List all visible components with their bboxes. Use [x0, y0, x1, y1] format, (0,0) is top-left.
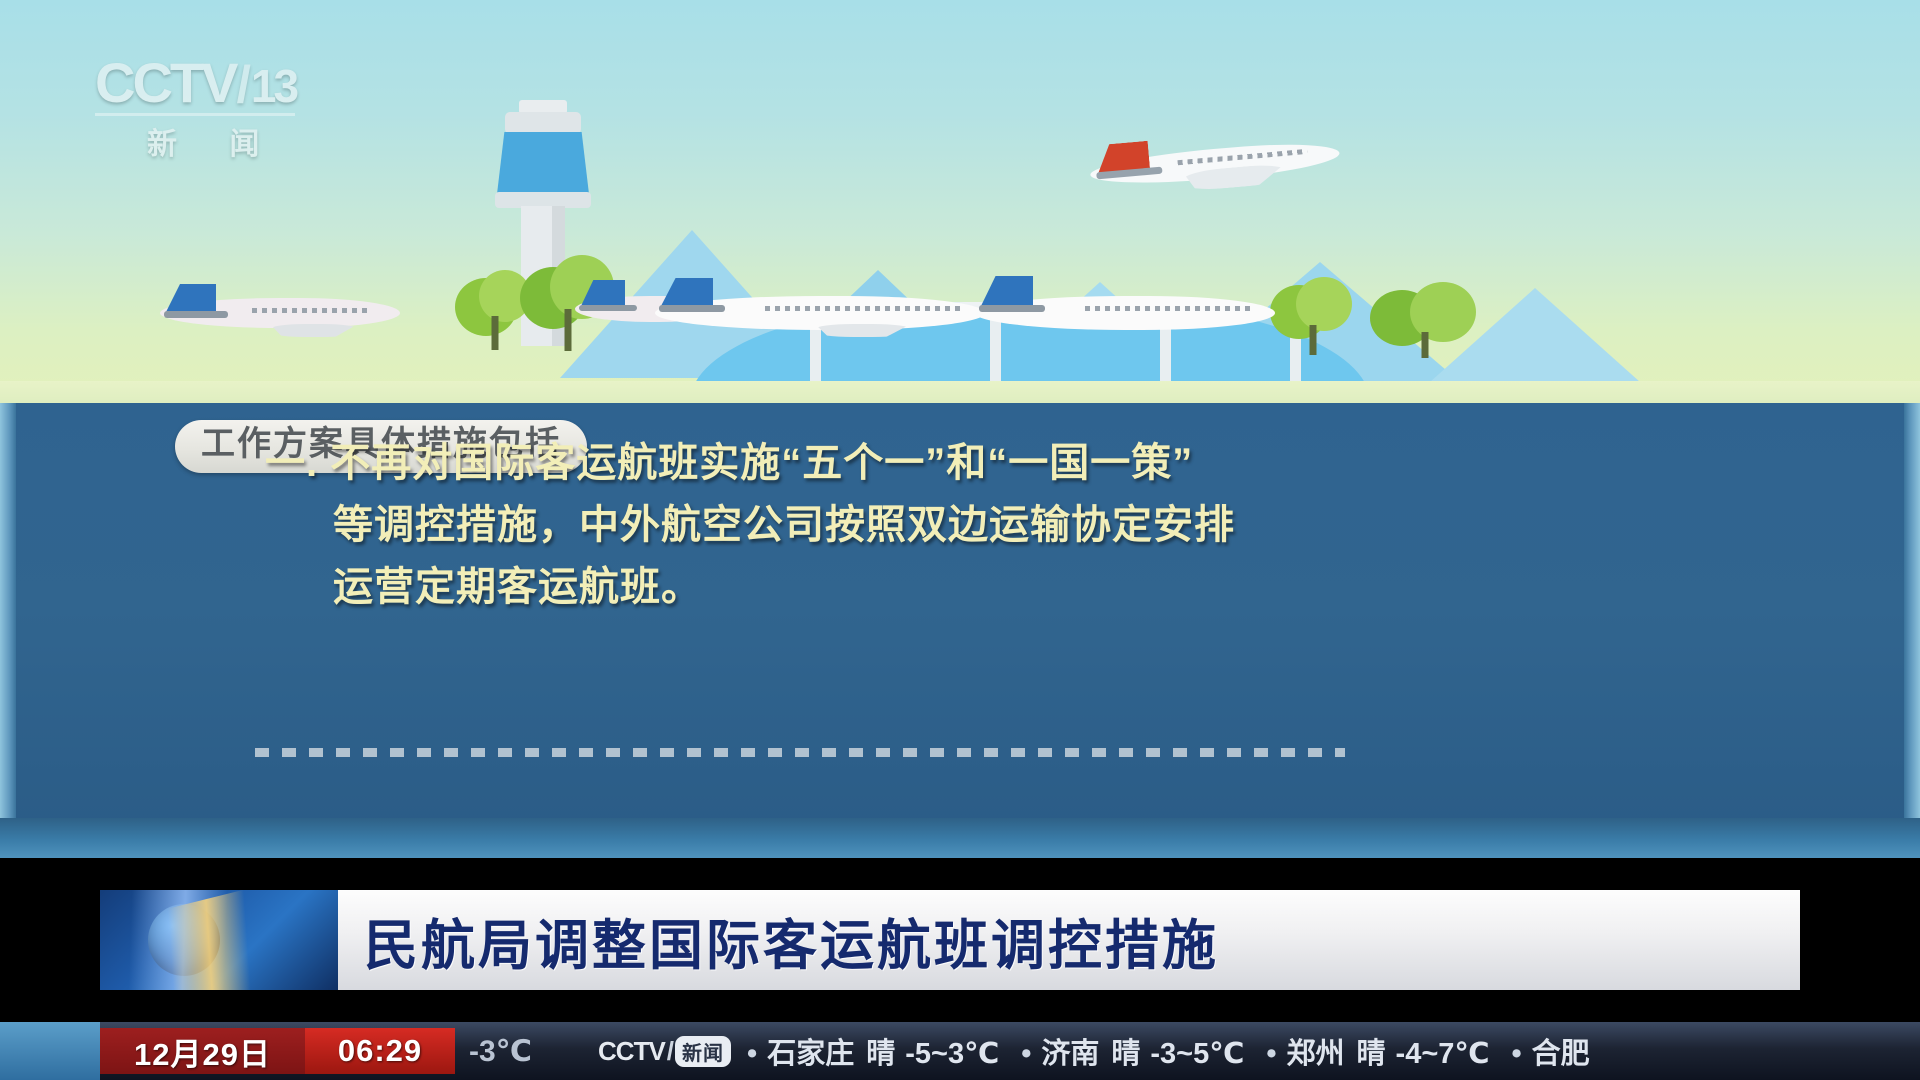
weather-temp: -3~5℃: [1150, 1038, 1244, 1070]
weather-item: •济南晴-3~5℃: [1021, 1030, 1244, 1072]
airplane-flying-icon: [1088, 124, 1342, 206]
weather-list: •石家庄晴-5~3℃ •济南晴-3~5℃ •郑州晴-4~7℃ •合肥: [747, 1030, 1624, 1072]
headline-bar: 民航局调整国际客运航班调控措施: [100, 890, 1800, 990]
weather-item: •石家庄晴-5~3℃: [747, 1030, 999, 1072]
weather-condition: 晴: [1357, 1038, 1386, 1070]
airplane-parked-icon: [655, 278, 985, 340]
weather-city: 济南: [1041, 1038, 1099, 1070]
ticker-logo-wordmark: CCTV: [598, 1036, 665, 1067]
body-line: 等调控措施，中外航空公司按照双边运输协定安排: [265, 494, 1665, 556]
broadcast-screen: CCTV / 13 新 闻 工作方案具体措施包括 一. 不再对国际客运航班实施“…: [0, 0, 1920, 1080]
ticker-cctv-news-logo: CCTV / 新闻: [598, 1036, 731, 1067]
bullet-icon: •: [1266, 1038, 1276, 1070]
ticker-local-temp: -3℃: [469, 1034, 532, 1069]
weather-condition: 晴: [866, 1038, 895, 1070]
panel-bottom-band: [0, 818, 1920, 858]
bullet-icon: •: [1512, 1038, 1522, 1070]
airport-illustration: [0, 0, 1920, 403]
ground-strip: [0, 381, 1920, 403]
ticker-left-block: [0, 1022, 100, 1080]
body-line: 一. 不再对国际客运航班实施“五个一”和“一国一策”: [265, 432, 1665, 494]
body-line: 运营定期客运航班。: [265, 556, 1665, 618]
weather-item: •郑州晴-4~7℃: [1266, 1030, 1489, 1072]
ticker-date: 12月29日: [100, 1028, 305, 1074]
airplane-parked-icon: [975, 276, 1275, 338]
weather-city: 石家庄: [767, 1038, 854, 1070]
broadcast-swoosh-graphic: [100, 890, 338, 990]
bullet-icon: •: [1021, 1038, 1031, 1070]
weather-temp: -4~7℃: [1396, 1038, 1490, 1070]
weather-item: •合肥: [1512, 1030, 1602, 1072]
bullet-icon: •: [747, 1038, 757, 1070]
weather-city: 合肥: [1532, 1038, 1590, 1070]
dashed-divider: [255, 748, 1345, 757]
news-ticker: 12月29日 06:29 -3℃ CCTV / 新闻 •石家庄晴-5~3℃ •济…: [0, 1022, 1920, 1080]
weather-city: 郑州: [1287, 1038, 1345, 1070]
ticker-logo-slash: /: [667, 1036, 673, 1067]
panel-right-edge: [1904, 403, 1920, 858]
tree-icon: [1270, 275, 1356, 355]
ticker-logo-cn: 新闻: [675, 1036, 731, 1067]
weather-temp: -5~3℃: [905, 1038, 999, 1070]
body-text-block: 一. 不再对国际客运航班实施“五个一”和“一国一策” 等调控措施，中外航空公司按…: [265, 432, 1665, 618]
headline-title: 民航局调整国际客运航班调控措施: [364, 901, 1219, 980]
panel-left-edge: [0, 403, 16, 858]
weather-condition: 晴: [1111, 1038, 1140, 1070]
tree-icon: [1370, 282, 1480, 358]
ticker-time: 06:29: [305, 1028, 455, 1074]
airplane-parked-icon: [160, 282, 400, 340]
